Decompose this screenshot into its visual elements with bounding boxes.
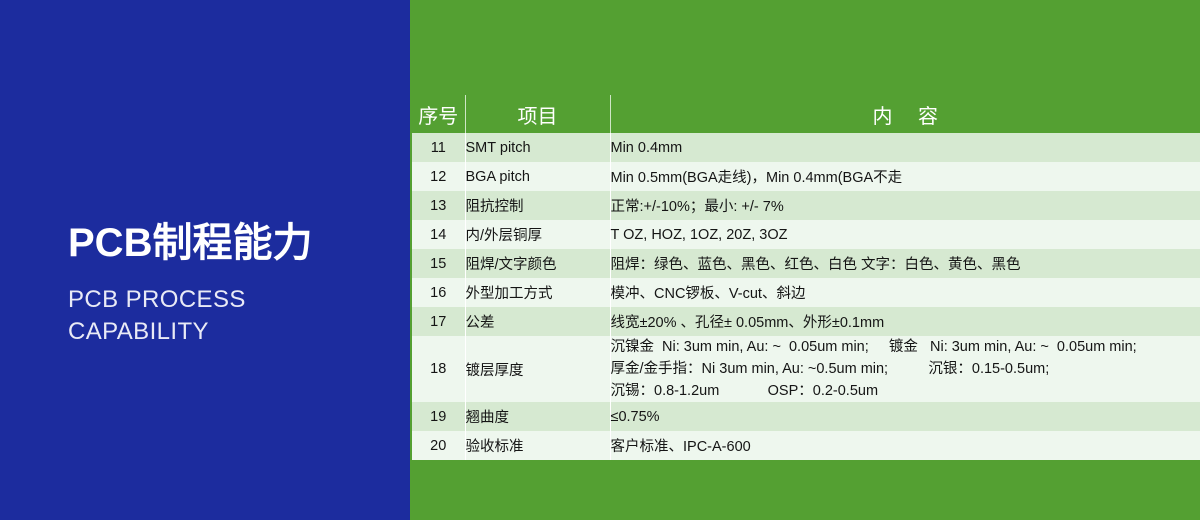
- cell-no: 11: [412, 133, 465, 162]
- cell-content-line: 厚金/金手指：Ni 3um min, Au: ~0.5um min; 沉银：0.…: [611, 358, 1200, 380]
- table-row: 19翘曲度≤0.75%: [412, 402, 1200, 431]
- cell-content-multiline: 沉镍金 Ni: 3um min, Au: ~ 0.05um min; 镀金 Ni…: [611, 336, 1200, 402]
- cell-content: Min 0.5mm(BGA走线)，Min 0.4mm(BGA不走: [610, 162, 1200, 191]
- table-row: 18镀层厚度沉镍金 Ni: 3um min, Au: ~ 0.05um min;…: [412, 336, 1200, 402]
- cell-item: 验收标准: [465, 431, 610, 460]
- table-row: 13阻抗控制正常:+/-10%；最小: +/- 7%: [412, 191, 1200, 220]
- cell-no: 20: [412, 431, 465, 460]
- page-subtitle-en: PCB PROCESS CAPABILITY: [68, 284, 408, 347]
- cell-content: ≤0.75%: [610, 402, 1200, 431]
- column-header-item: 项目: [465, 95, 610, 133]
- cell-item: BGA pitch: [465, 162, 610, 191]
- cell-item: 公差: [465, 307, 610, 336]
- cell-item: 阻抗控制: [465, 191, 610, 220]
- cell-content-line: 沉锡：0.8-1.2um OSP：0.2-0.5um: [611, 380, 1200, 402]
- column-header-content: 内 容: [610, 95, 1200, 133]
- spec-table-container: 序号 项目 内 容 11SMT pitchMin 0.4mm12BGA pitc…: [412, 95, 1200, 460]
- cell-content: 沉镍金 Ni: 3um min, Au: ~ 0.05um min; 镀金 Ni…: [610, 336, 1200, 402]
- cell-content: 正常:+/-10%；最小: +/- 7%: [610, 191, 1200, 220]
- cell-no: 13: [412, 191, 465, 220]
- cell-no: 19: [412, 402, 465, 431]
- cell-item: 外型加工方式: [465, 278, 610, 307]
- table-body: 11SMT pitchMin 0.4mm12BGA pitchMin 0.5mm…: [412, 133, 1200, 460]
- page-subtitle-line2: CAPABILITY: [68, 316, 408, 348]
- cell-item: SMT pitch: [465, 133, 610, 162]
- page-title-cn: PCB制程能力: [68, 222, 408, 264]
- cell-item: 翘曲度: [465, 402, 610, 431]
- table-row: 11SMT pitchMin 0.4mm: [412, 133, 1200, 162]
- table-row: 14内/外层铜厚T OZ, HOZ, 1OZ, 20Z, 3OZ: [412, 220, 1200, 249]
- table-row: 20验收标准客户标准、IPC-A-600: [412, 431, 1200, 460]
- cell-no: 16: [412, 278, 465, 307]
- title-block: PCB制程能力 PCB PROCESS CAPABILITY: [68, 222, 408, 347]
- cell-content: 客户标准、IPC-A-600: [610, 431, 1200, 460]
- cell-no: 15: [412, 249, 465, 278]
- cell-content: 线宽±20% 、孔径± 0.05mm、外形±0.1mm: [610, 307, 1200, 336]
- cell-item: 阻焊/文字颜色: [465, 249, 610, 278]
- table-header: 序号 项目 内 容: [412, 95, 1200, 133]
- table-row: 15阻焊/文字颜色阻焊：绿色、蓝色、黑色、红色、白色 文字：白色、黄色、黑色: [412, 249, 1200, 278]
- table-row: 17公差线宽±20% 、孔径± 0.05mm、外形±0.1mm: [412, 307, 1200, 336]
- table-row: 12BGA pitchMin 0.5mm(BGA走线)，Min 0.4mm(BG…: [412, 162, 1200, 191]
- table-row: 16外型加工方式模冲、CNC锣板、V-cut、斜边: [412, 278, 1200, 307]
- spec-table: 序号 项目 内 容 11SMT pitchMin 0.4mm12BGA pitc…: [412, 95, 1200, 460]
- table-header-row: 序号 项目 内 容: [412, 95, 1200, 133]
- cell-item: 镀层厚度: [465, 336, 610, 402]
- page-subtitle-line1: PCB PROCESS: [68, 284, 408, 316]
- cell-content: T OZ, HOZ, 1OZ, 20Z, 3OZ: [610, 220, 1200, 249]
- cell-no: 17: [412, 307, 465, 336]
- cell-content: 阻焊：绿色、蓝色、黑色、红色、白色 文字：白色、黄色、黑色: [610, 249, 1200, 278]
- cell-content: 模冲、CNC锣板、V-cut、斜边: [610, 278, 1200, 307]
- cell-content: Min 0.4mm: [610, 133, 1200, 162]
- cell-item: 内/外层铜厚: [465, 220, 610, 249]
- cell-content-line: 沉镍金 Ni: 3um min, Au: ~ 0.05um min; 镀金 Ni…: [611, 336, 1200, 358]
- left-title-panel: PCB制程能力 PCB PROCESS CAPABILITY: [0, 0, 410, 520]
- cell-no: 12: [412, 162, 465, 191]
- cell-no: 18: [412, 336, 465, 402]
- slide-canvas: PCB制程能力 PCB PROCESS CAPABILITY 序号 项目 内 容…: [0, 0, 1200, 520]
- cell-no: 14: [412, 220, 465, 249]
- column-header-no: 序号: [412, 95, 465, 133]
